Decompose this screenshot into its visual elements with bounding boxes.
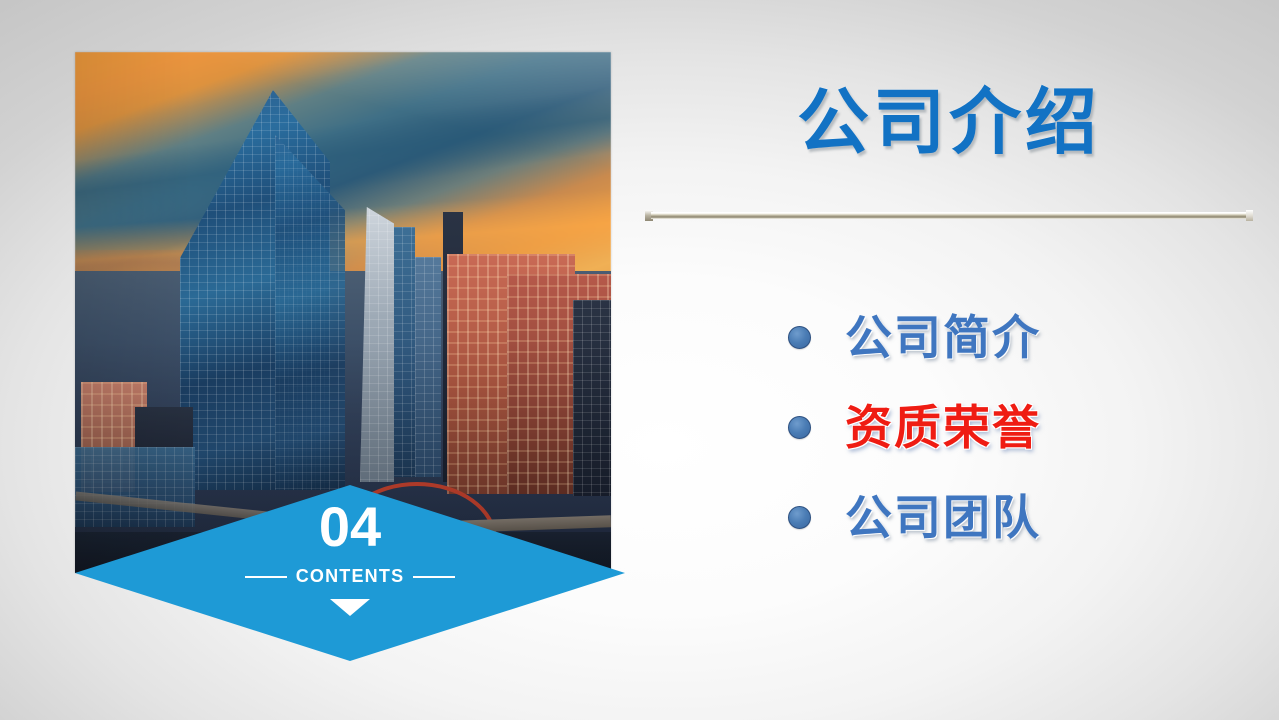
divider-cap-right <box>1246 210 1253 221</box>
title-divider <box>645 210 1253 221</box>
list-item[interactable]: 资质荣誉 <box>788 382 1258 472</box>
bullet-dot-icon <box>788 506 811 529</box>
list-item-label: 公司团队 <box>845 494 1041 541</box>
presentation-slide: 04 CONTENTS 公司介绍 公司简介 资质荣誉 公司团队 <box>0 0 1279 720</box>
bullet-dot-icon <box>788 416 811 439</box>
list-item-label: 公司简介 <box>845 314 1041 361</box>
bullet-dot-icon <box>788 326 811 349</box>
list-item[interactable]: 公司团队 <box>788 472 1258 562</box>
list-item-label: 资质荣誉 <box>845 404 1041 451</box>
page-title: 公司介绍 <box>645 82 1253 165</box>
agenda-list: 公司简介 资质荣誉 公司团队 <box>788 292 1258 562</box>
list-item[interactable]: 公司简介 <box>788 292 1258 382</box>
divider-bar <box>651 212 1249 219</box>
